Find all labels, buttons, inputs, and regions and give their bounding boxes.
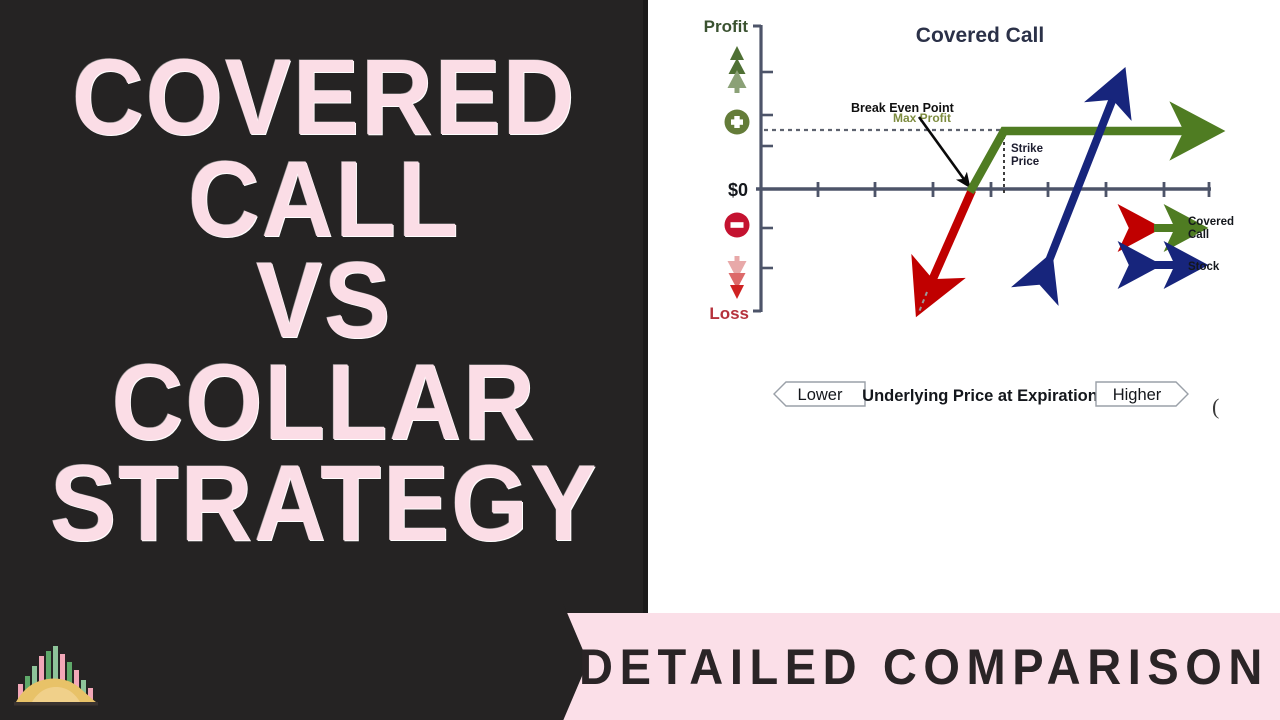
candlestick-bull-logo (8, 632, 104, 710)
covered-call-payoff-chart: Covered Call Profit $0 Loss (648, 0, 1280, 614)
x-axis-lower-badge-label: Lower (798, 386, 843, 404)
red-segment-dashed-extension (919, 292, 927, 312)
strike-price-annotation-label-line1: Strike (1011, 143, 1043, 155)
x-axis-caption-row: Lower Underlying Price at Expiration Hig… (774, 382, 1188, 406)
logo-baseline (14, 702, 98, 706)
y-axis-label-loss: Loss (709, 304, 749, 323)
break-even-leader-arrow (919, 117, 966, 182)
chart-legend: Covered Call Stock (1132, 216, 1234, 273)
y-axis-label-profit: Profit (704, 17, 749, 36)
x-axis-higher-badge-label: Higher (1113, 386, 1162, 404)
legend-label-covered-call-line2: Call (1188, 229, 1209, 241)
strike-price-annotation-label-line2: Price (1011, 156, 1039, 168)
thumbnail-canvas: Covered Call Profit $0 Loss (0, 0, 1280, 720)
minus-circle-icon (725, 213, 750, 238)
chart-title: Covered Call (916, 24, 1044, 47)
loss-down-arrows-icon (728, 256, 747, 299)
break-even-annotation-label: Break Even Point (851, 101, 955, 115)
stray-glyph-artifact: ( (1212, 394, 1219, 420)
plus-circle-icon (725, 110, 750, 135)
legend-label-covered-call-line1: Covered (1188, 216, 1234, 228)
chart-svg: Covered Call Profit $0 Loss (648, 0, 1280, 614)
banner-subtitle: DETAILED COMPARISON (614, 613, 1234, 720)
y-tick-marks (761, 72, 773, 268)
covered-call-red-segment (931, 190, 972, 283)
y-axis-label-zero: $0 (728, 180, 748, 200)
legend-label-stock: Stock (1188, 261, 1220, 273)
profit-up-arrows-icon (728, 46, 747, 93)
x-axis-title: Underlying Price at Expiration (862, 387, 1098, 405)
